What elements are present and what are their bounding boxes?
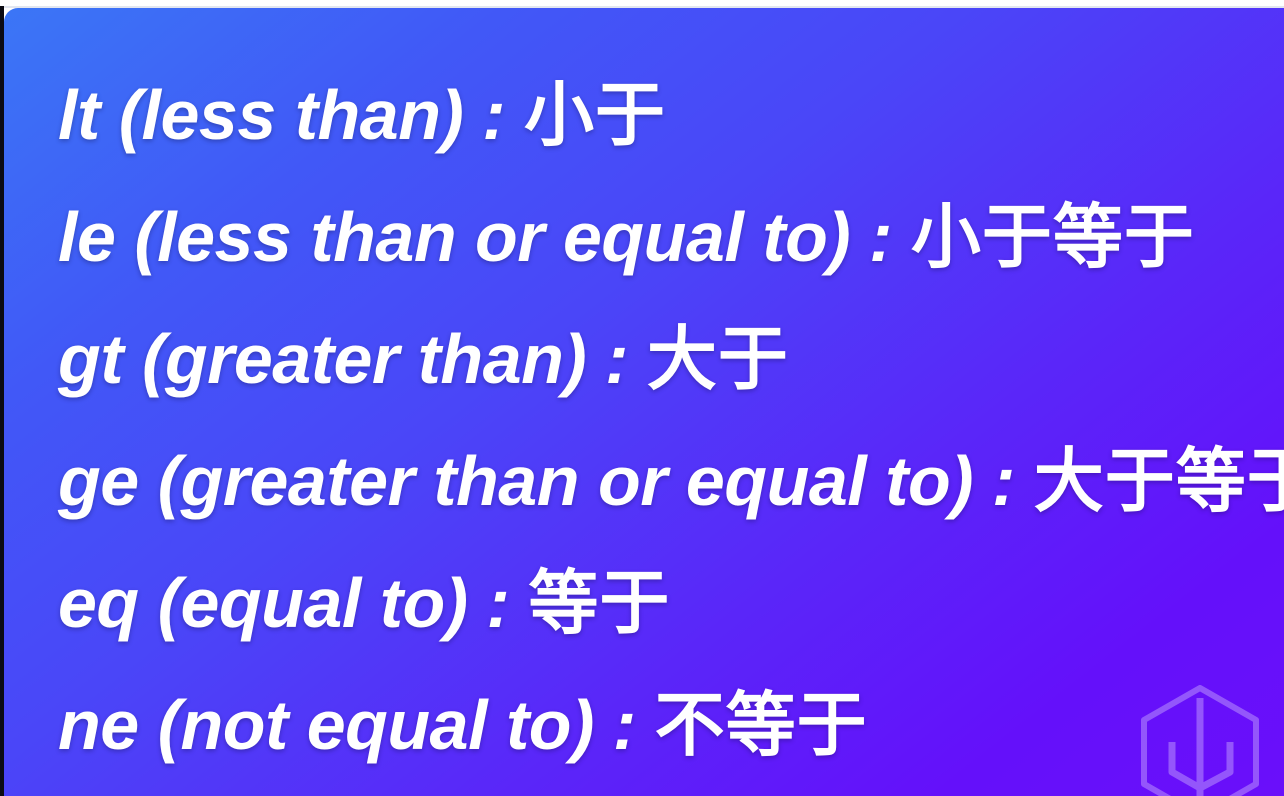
operator-english: gt (greater than) : — [58, 320, 628, 398]
operator-chinese: 小于 — [524, 74, 666, 156]
operator-chinese: 大于等于 — [1034, 440, 1284, 522]
operator-english: ne (not equal to) : — [58, 686, 636, 764]
operator-chinese: 不等于 — [655, 684, 868, 766]
list-item: lt (less than) : 小于 — [58, 54, 1258, 176]
operator-english: eq (equal to) : — [58, 564, 509, 642]
left-dark-edge — [0, 6, 4, 796]
slide-panel: lt (less than) : 小于 le (less than or equ… — [4, 8, 1284, 796]
list-item: ne (not equal to) : 不等于 — [58, 664, 1258, 786]
top-hairline-divider — [0, 6, 1284, 8]
operator-english: lt (less than) : — [58, 76, 505, 154]
operator-english: le (less than or equal to) : — [58, 198, 892, 276]
slide-screenshot: lt (less than) : 小于 le (less than or equ… — [0, 0, 1284, 796]
list-item: gt (greater than) : 大于 — [58, 298, 1258, 420]
operator-chinese: 等于 — [528, 562, 670, 644]
operator-chinese: 小于等于 — [911, 196, 1195, 278]
operator-english: ge (greater than or equal to) : — [58, 442, 1015, 520]
list-item: ge (greater than or equal to) : 大于等于 — [58, 420, 1258, 542]
operator-list: lt (less than) : 小于 le (less than or equ… — [58, 54, 1258, 786]
operator-chinese: 大于 — [647, 318, 789, 400]
list-item: eq (equal to) : 等于 — [58, 542, 1258, 664]
list-item: le (less than or equal to) : 小于等于 — [58, 176, 1258, 298]
